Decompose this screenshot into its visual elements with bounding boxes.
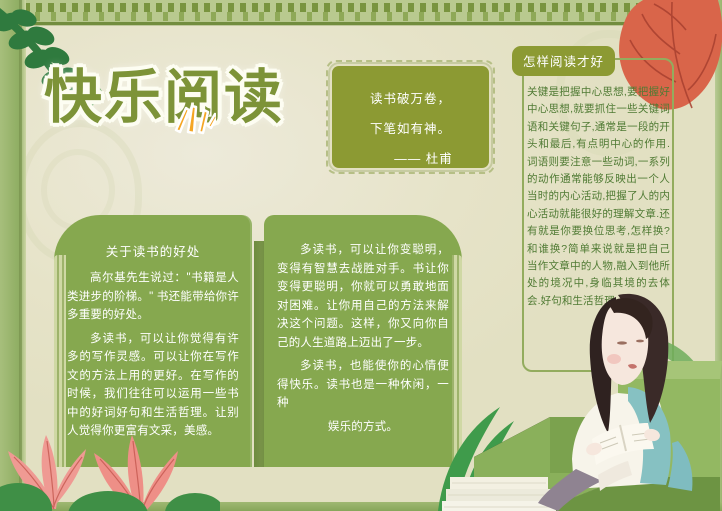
quote-line-2: 下笔如有神。 <box>332 114 489 144</box>
border-top-shade <box>0 22 722 26</box>
quote-line-1: 读书破万卷， <box>332 66 489 114</box>
border-bottom-band <box>0 502 722 511</box>
left-page-heading: 关于读书的好处 <box>67 241 239 260</box>
left-page-paragraph-1: 高尔基先生说过："书籍是人类进步的阶梯。" 书还能带给你许多重要的好处。 <box>67 269 239 325</box>
right-page-closing: 娱乐的方式。 <box>277 418 449 437</box>
article-title: 怎样阅读才好 <box>512 46 615 76</box>
border-left-band <box>0 0 26 511</box>
sparkle-icon <box>170 102 216 136</box>
book-page-right: 多读书，可以让你变聪明，变得有智慧去战胜对手。书让你变得更聪明，你就可以勇敢地面… <box>264 215 462 467</box>
border-right-band <box>715 0 722 511</box>
right-page-paragraph-2: 多读书，也能使你的心情便得快乐。读书也是一种休闲，一种 <box>277 357 449 413</box>
quote-card: 读书破万卷， 下笔如有神。 —— 杜甫 <box>332 66 489 168</box>
right-page-paragraph-1: 多读书，可以让你变聪明，变得有智慧去战胜对手。书让你变得更聪明，你就可以勇敢地面… <box>277 241 449 352</box>
left-page-paragraph-2: 多读书，可以让你觉得有许多的写作灵感。可以让你在写作文的方法上用的更好。在写作的… <box>67 330 239 441</box>
book-page-left: 关于读书的好处 高尔基先生说过："书籍是人类进步的阶梯。" 书还能带给你许多重要… <box>54 215 252 467</box>
article-body: 关键是把握中心思想,要把握好中心思想,就要抓住一些关键词语和关键句子,通常是一段… <box>527 84 670 310</box>
article-panel: 怎样阅读才好 关键是把握中心思想,要把握好中心思想,就要抓住一些关键词语和关键句… <box>522 58 674 372</box>
quote-author: —— 杜甫 <box>332 144 489 174</box>
open-book: 关于读书的好处 高尔基先生说过："书籍是人类进步的阶梯。" 书还能带给你许多重要… <box>42 215 472 467</box>
page-title: 快乐阅读 <box>44 58 334 138</box>
reading-poster: 快乐阅读 读书破万卷， 下笔如有神。 —— 杜甫 关于读书的好处 高尔基先生说过… <box>0 0 722 511</box>
